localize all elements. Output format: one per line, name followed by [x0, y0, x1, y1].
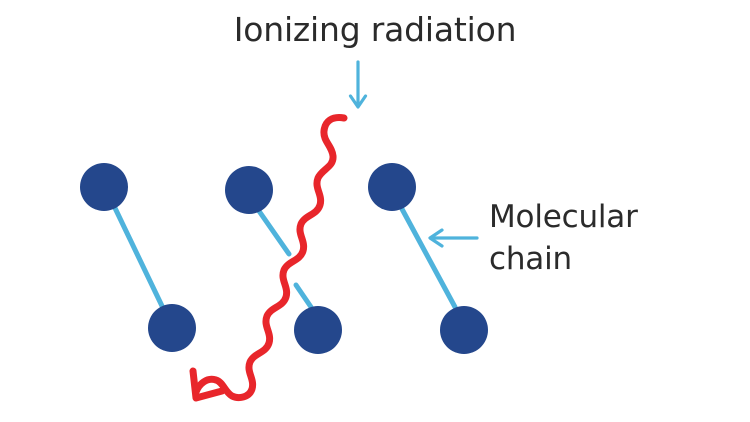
- ionizing-radiation-wave-icon: [193, 118, 344, 398]
- molecule-node-5: [368, 163, 416, 211]
- radiation-direction-arrow-icon: [351, 62, 366, 107]
- chain-1-group: [80, 163, 196, 352]
- molecular-chain-label-line-2: chain: [489, 238, 638, 280]
- bond-chain-2-upper-stub: [259, 211, 289, 254]
- molecule-node-4: [294, 306, 342, 354]
- molecular-chain-label-line-1: Molecular: [489, 199, 638, 235]
- molecule-node-1: [80, 163, 128, 211]
- molecular-chain-pointer-arrow-icon: [430, 230, 477, 246]
- chain-3-group: [368, 163, 488, 354]
- bond-chain-1: [115, 208, 162, 306]
- molecule-node-3: [225, 166, 273, 214]
- molecular-chain-label: Molecularchain: [489, 196, 638, 280]
- bond-chain-3: [402, 209, 455, 307]
- diagram-canvas: Ionizing radiation Molecularchain: [0, 0, 750, 422]
- chain-2-group-broken: [225, 166, 342, 354]
- bond-chain-2-lower-stub: [296, 285, 311, 307]
- molecule-node-2: [148, 304, 196, 352]
- molecule-node-6: [440, 306, 488, 354]
- page-title: Ionizing radiation: [0, 10, 750, 50]
